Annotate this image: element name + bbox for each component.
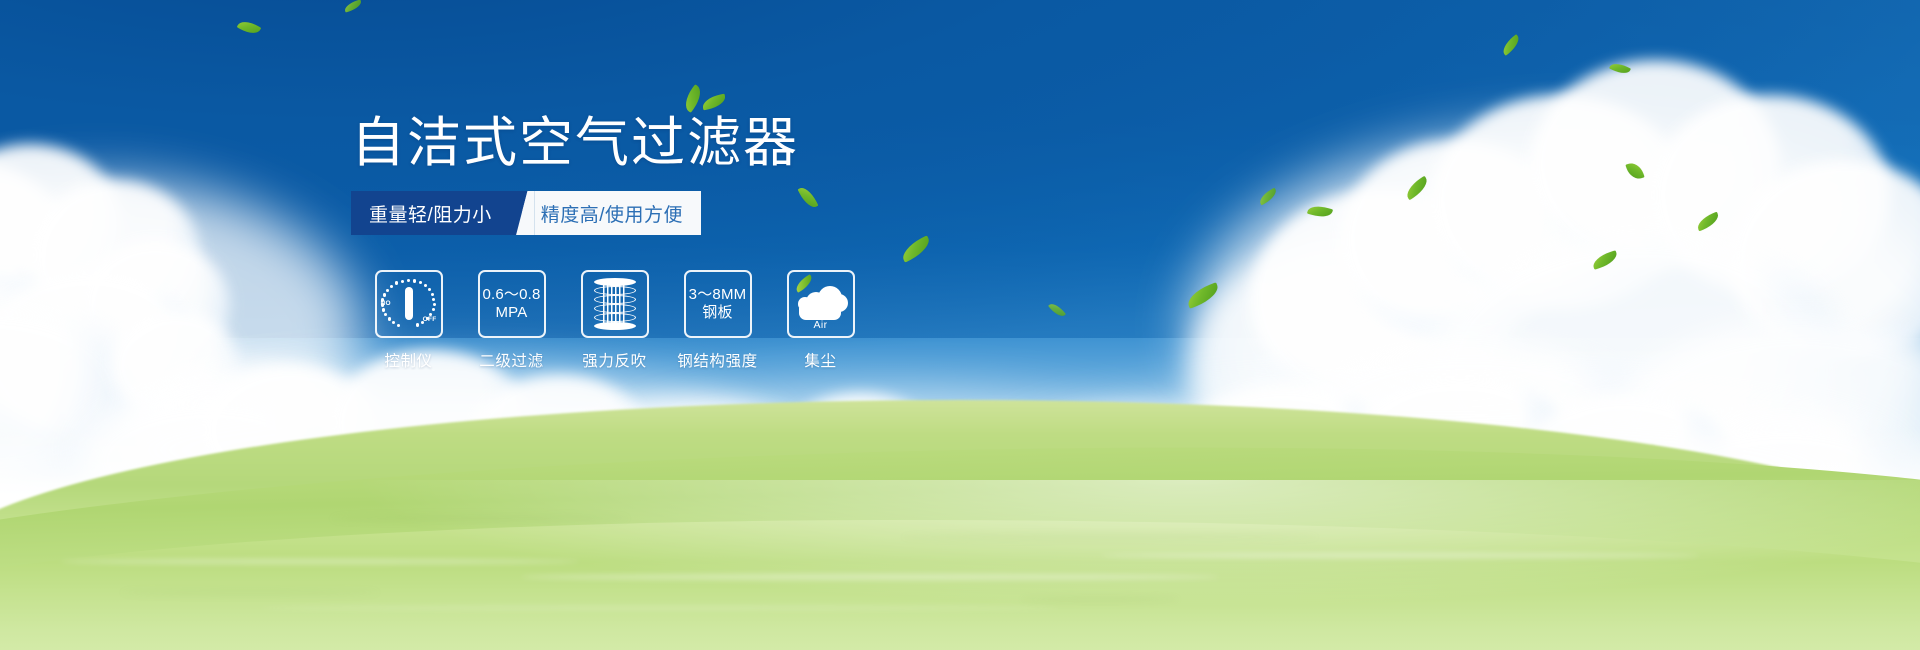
feature-icon-row: NO OFF [357,270,872,371]
air-label: Air [792,319,850,331]
air-cloud-icon: Air [792,278,850,330]
steel-plate-icon: 3～8MM 钢板 [689,286,747,321]
product-hero-banner: 自洁式空气过滤器 重量轻/阻力小 精度高/使用方便 NO OFF [0,0,1920,650]
tag-precision-easyuse: 精度高/使用方便 [535,191,701,235]
pressure-unit-line: MPA [482,304,540,322]
banner-content: 自洁式空气过滤器 重量轻/阻力小 精度高/使用方便 NO OFF [0,0,1920,650]
feature-item-controller[interactable]: NO OFF [357,270,460,371]
feature-label: 强力反吹 [582,349,646,371]
feature-item-two-stage-filtration[interactable]: 0.6～0.8 MPA 二级过滤 [460,270,563,371]
feature-label: 集尘 [804,349,836,371]
steel-thickness-line: 3～8MM [689,286,747,304]
feature-label: 二级过滤 [479,349,543,371]
feature-item-steel-strength[interactable]: 3～8MM 钢板 钢结构强度 [666,270,769,371]
steel-plate-line: 钢板 [689,304,747,322]
pressure-range-line: 0.6～0.8 [482,286,540,304]
control-knob-icon: NO OFF [381,278,437,330]
pressure-value-icon: 0.6～0.8 MPA [482,286,540,321]
tag-lightweight-lowresistance: 重量轻/阻力小 [351,191,509,235]
banner-title: 自洁式空气过滤器 [351,116,799,170]
feature-item-dust-collection[interactable]: Air 集尘 [769,270,872,371]
feature-icon-box: NO OFF [375,270,443,338]
filter-cartridge-icon [594,278,636,330]
tag-group: 重量轻/阻力小 精度高/使用方便 [351,191,701,235]
feature-icon-box: 3～8MM 钢板 [684,270,752,338]
knob-off-label: OFF [423,316,437,323]
feature-label: 控制仪 [384,349,432,371]
feature-item-strong-backblow[interactable]: 强力反吹 [563,270,666,371]
leaf-icon [793,274,815,293]
feature-label: 钢结构强度 [677,349,758,371]
tag-divider [509,191,535,235]
feature-icon-box: Air [787,270,855,338]
feature-icon-box: 0.6～0.8 MPA [478,270,546,338]
feature-icon-box [581,270,649,338]
